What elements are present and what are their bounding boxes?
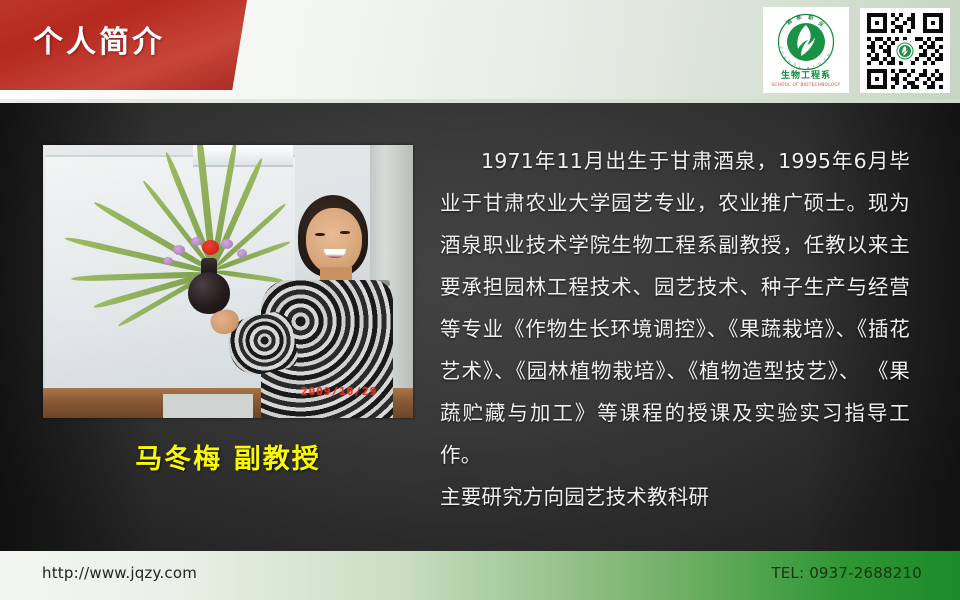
header-band-edge (0, 99, 960, 103)
school-logo: 酒 泉 职 业 S C H O O L B I O T E 生物工程系 SCHO… (763, 7, 849, 93)
page-title: 个人简介 (33, 17, 165, 61)
qr-code-matrix (867, 13, 943, 89)
logo-english-name: SCHOOL OF BIOTECHNOLOGY (771, 83, 840, 87)
footer-website-link[interactable]: http://www.jqzy.com (42, 564, 197, 582)
qr-code[interactable] (860, 8, 950, 93)
photo-flower (173, 245, 185, 255)
photo-date-stamp: 2009/10/29 (301, 385, 377, 398)
research-direction: 主要研究方向园艺技术教科研 (440, 476, 910, 518)
profile-photo: 2009/10/29 (43, 145, 413, 418)
photo-person-eye (315, 233, 325, 236)
photo-flower (237, 249, 247, 258)
qr-center-logo-icon (894, 40, 916, 62)
photo-vase (188, 272, 230, 314)
photo-person-eye (340, 231, 350, 234)
photo-flower (163, 257, 173, 265)
svg-text:业: 业 (817, 19, 825, 29)
photo-flower (191, 237, 202, 246)
footer-telephone: TEL: 0937-2688210 (771, 564, 922, 582)
slide-root: 个人简介 酒 泉 职 业 S C H O O L B I O T (0, 0, 960, 600)
svg-text:O: O (793, 62, 797, 67)
svg-text:S: S (779, 46, 783, 50)
photo-person-face (306, 208, 362, 274)
biography-paragraph: 1971年11月出生于甘肃酒泉，1995年6月毕业于甘肃农业大学园艺专业，农业推… (440, 140, 910, 476)
photo-desk-paper (163, 394, 253, 418)
biotechnology-emblem-icon: 酒 泉 职 业 S C H O O L B I O T E (777, 13, 835, 71)
photo-caption: 马冬梅 副教授 (43, 437, 413, 476)
svg-text:职: 职 (808, 13, 815, 22)
logo-chinese-name: 生物工程系 (781, 72, 831, 81)
photo-flower (221, 239, 233, 249)
photo-red-flower (202, 240, 219, 255)
photo-window (193, 145, 293, 167)
biography-block: 1971年11月出生于甘肃酒泉，1995年6月毕业于甘肃农业大学园艺专业，农业推… (440, 140, 910, 518)
svg-text:O: O (788, 59, 792, 64)
